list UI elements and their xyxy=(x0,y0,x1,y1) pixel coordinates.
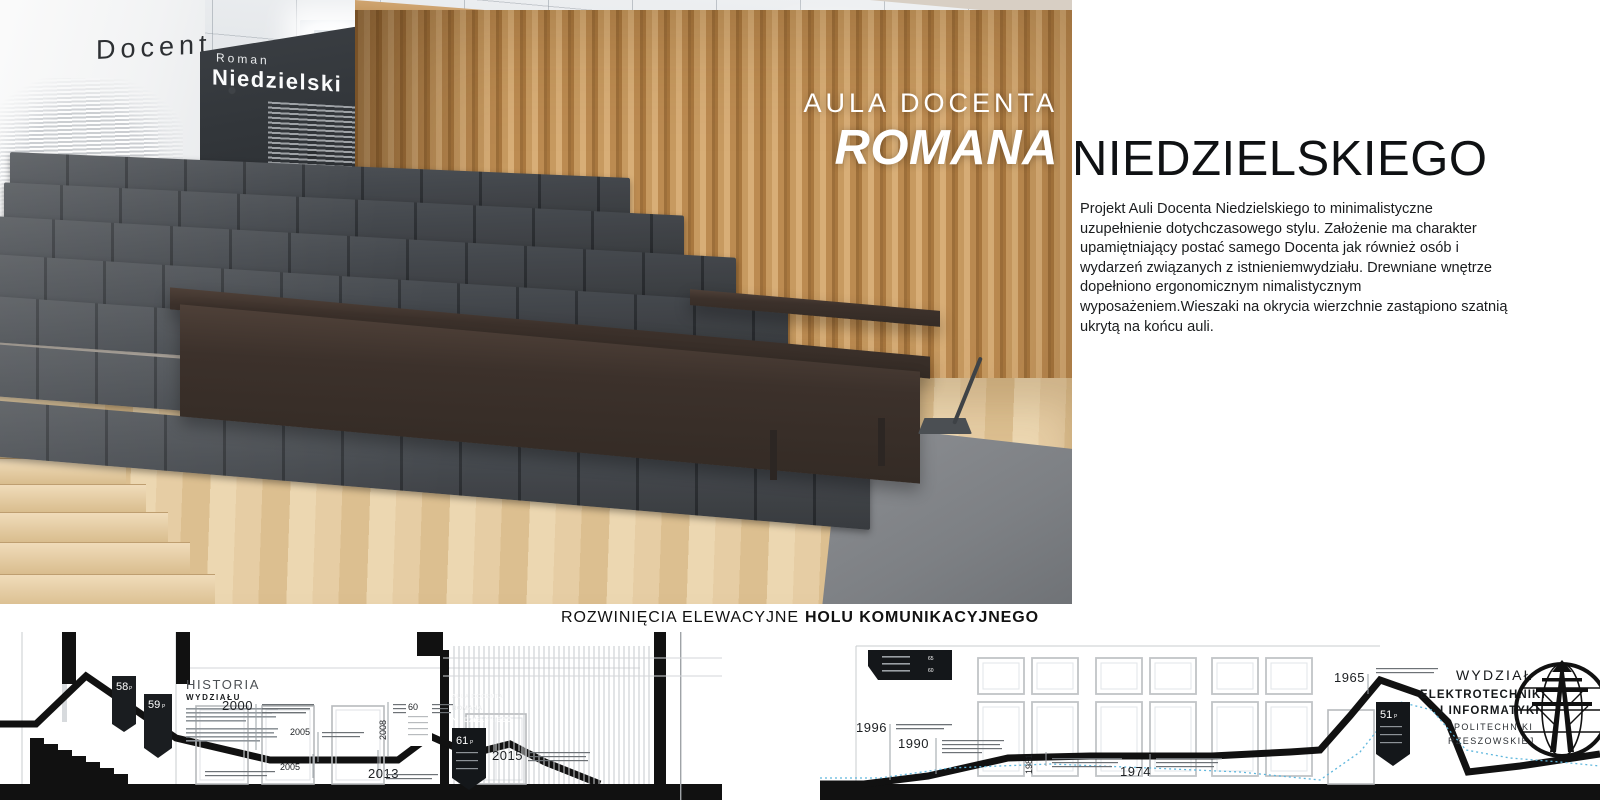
year-label: 1974 xyxy=(1120,764,1151,779)
year-label: 2005 xyxy=(280,762,300,772)
room-tag: 60 xyxy=(406,698,432,746)
room-number: 58 xyxy=(116,681,128,693)
auditorium-photo: Docent Roman Niedzielski xyxy=(0,0,1072,608)
caption-bold: HOLU KOMUNIKACYJNEGO xyxy=(805,609,1039,627)
title-first-name: ROMANA xyxy=(803,123,1058,174)
logo-line1: WYDZIAŁ xyxy=(1456,667,1534,683)
title-last-name: NIEDZIELSKIEGO xyxy=(1072,131,1487,187)
room-number: 65 xyxy=(928,656,934,662)
aula-sign-line2: ROMANA xyxy=(452,705,483,712)
desk-leg xyxy=(770,430,777,480)
caption-regular: ROZWINIĘCIA ELEWACYJNE xyxy=(561,609,799,627)
elevation-left-svg: HISTORIA WYDZIAŁU 2000 2005 2005 2008 xyxy=(0,632,722,800)
year-label: 2005 xyxy=(290,727,310,737)
elevation-drawing-left: HISTORIA WYDZIAŁU 2000 2005 2005 2008 xyxy=(0,632,722,800)
room-number: 51 xyxy=(1380,709,1392,721)
aula-sign: 61 P xyxy=(452,728,486,790)
elevations-caption: ROZWINIĘCIA ELEWACYJNE HOLU KOMUNIKACYJN… xyxy=(0,604,1600,632)
elevation-drawing-right: 65 60 xyxy=(820,632,1600,800)
room-number: 60 xyxy=(408,702,418,712)
room-number: 60 xyxy=(928,668,934,674)
year-label: 1996 xyxy=(856,720,887,735)
year-label: 1990 xyxy=(898,736,929,751)
room-tag: 51 P xyxy=(1376,702,1410,766)
elevation-right-svg: 65 60 xyxy=(820,632,1600,800)
microphone-base xyxy=(918,418,972,434)
directory-sign: 65 60 xyxy=(868,650,952,680)
logo-line5: RZESZOWSKIEJ xyxy=(1448,736,1535,746)
photo-title-overlay: AULA DOCENTA ROMANA xyxy=(803,88,1058,174)
year-label: 2008 xyxy=(378,720,388,740)
year-label: 1981 xyxy=(1024,754,1034,774)
aula-sign-line3: NIEDZIELSKIEGO xyxy=(452,717,512,724)
year-label: 2000 xyxy=(222,698,253,713)
aula-sign-line1: AULA DOCENTA xyxy=(452,694,503,700)
room-number: 59 xyxy=(148,699,160,711)
logo-line2: ELEKTROTECHNIKI xyxy=(1420,689,1546,701)
history-heading-line1: HISTORIA xyxy=(186,677,260,692)
title-eyebrow: AULA DOCENTA xyxy=(803,88,1058,119)
room-tag: 59 P xyxy=(144,694,172,758)
room-tag: 58 P xyxy=(112,676,136,732)
description-panel: NIEDZIELSKIEGO Projekt Auli Docenta Nied… xyxy=(1072,0,1600,608)
description-body: Projekt Auli Docenta Niedzielskiego to m… xyxy=(1080,200,1510,337)
year-label: 1965 xyxy=(1334,670,1365,685)
logo-line3: I INFORMATYKI xyxy=(1440,705,1540,717)
desk-leg xyxy=(878,418,885,466)
aula-room-number: 61 xyxy=(456,735,468,747)
year-label: 2015 xyxy=(492,748,523,763)
wall-label-docent: Docent xyxy=(96,29,212,66)
presentation-board: Docent Roman Niedzielski xyxy=(0,0,1600,800)
